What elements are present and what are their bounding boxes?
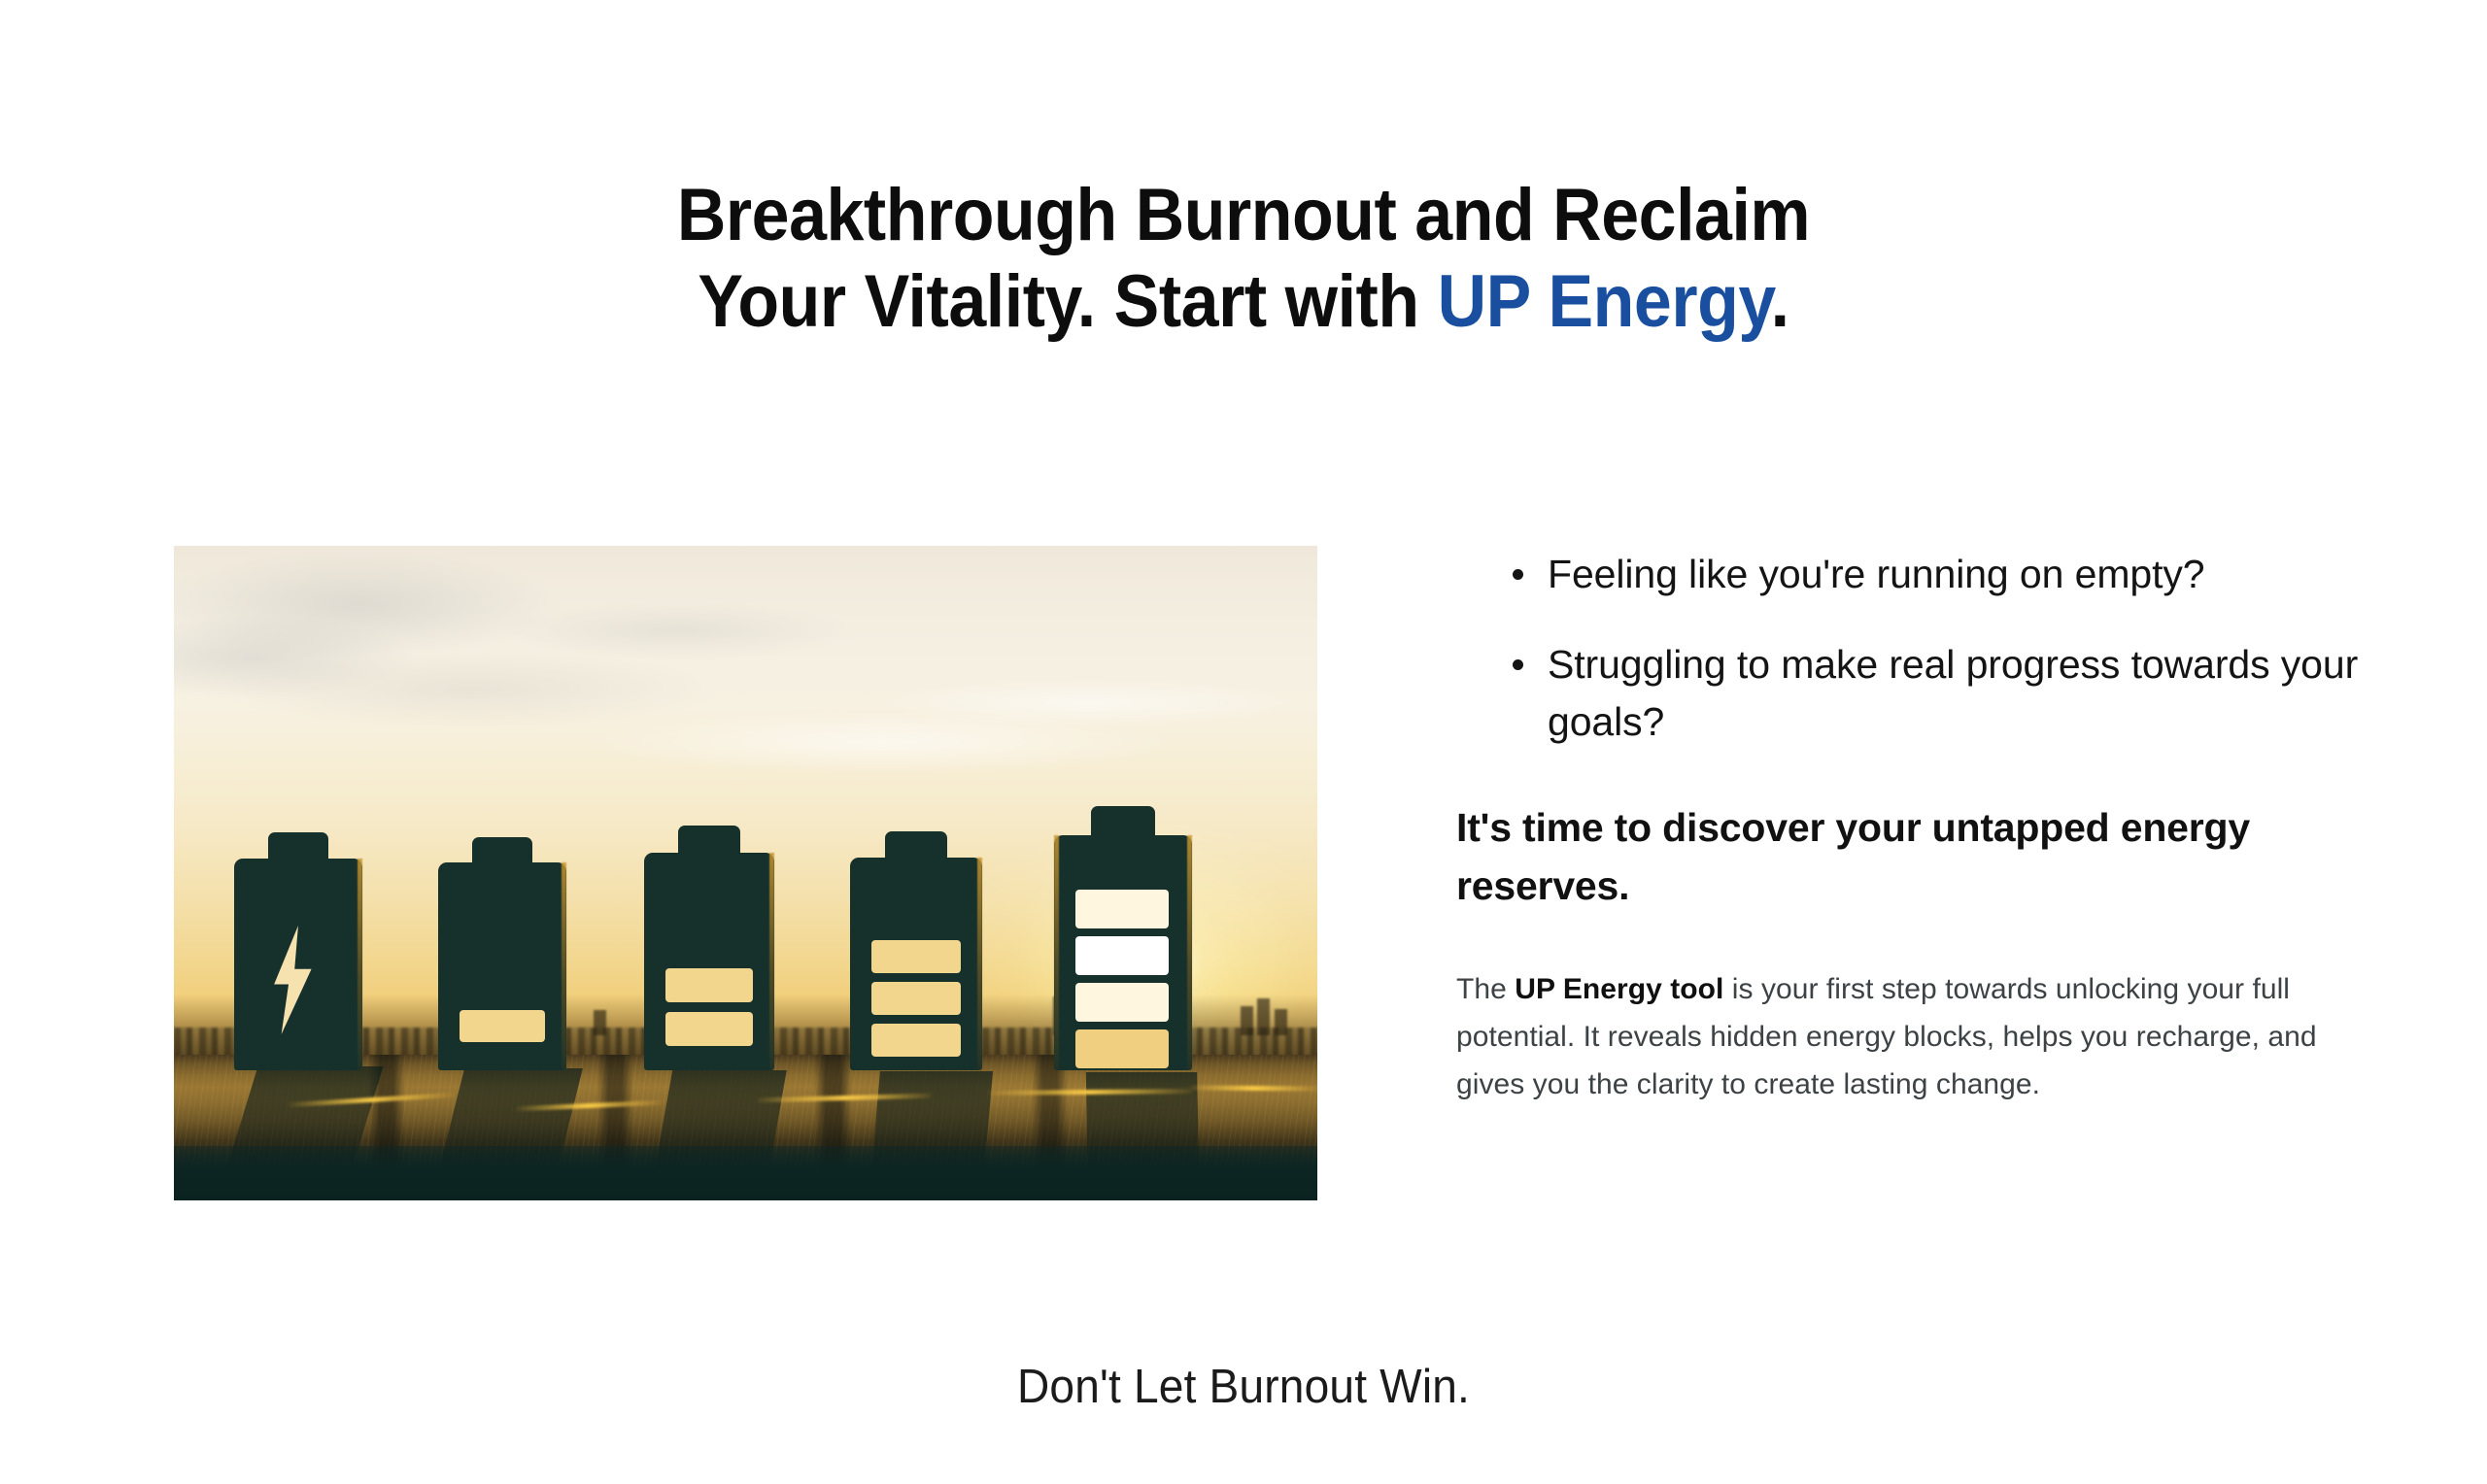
content-column: Feeling like you're running on empty? St…	[1456, 546, 2369, 1108]
headline-line-2-prefix: Your Vitality. Start with	[698, 260, 1437, 343]
list-item: Feeling like you're running on empty?	[1507, 546, 2369, 603]
list-item: Struggling to make real progress towards…	[1507, 636, 2369, 751]
paragraph-before: The	[1456, 973, 1515, 1005]
headline-line-2: Your Vitality. Start with UP Energy.	[99, 259, 2387, 346]
description-paragraph: The UP Energy tool is your first step to…	[1456, 966, 2331, 1109]
hero-image-battery-sunset	[174, 546, 1317, 1200]
footer-tagline: Don't Let Burnout Win.	[75, 1360, 2412, 1414]
pain-point-list: Feeling like you're running on empty? St…	[1507, 546, 2369, 751]
product-name-bold: UP Energy tool	[1515, 973, 1723, 1005]
headline-period: .	[1771, 260, 1789, 343]
photo-vignette	[174, 546, 1317, 1200]
lead-statement: It's time to discover your untapped ener…	[1456, 799, 2253, 916]
brand-name-accent: UP Energy	[1438, 260, 1771, 343]
headline-line-1: Breakthrough Burnout and Reclaim	[99, 173, 2387, 259]
page-title: Breakthrough Burnout and Reclaim Your Vi…	[99, 173, 2387, 346]
